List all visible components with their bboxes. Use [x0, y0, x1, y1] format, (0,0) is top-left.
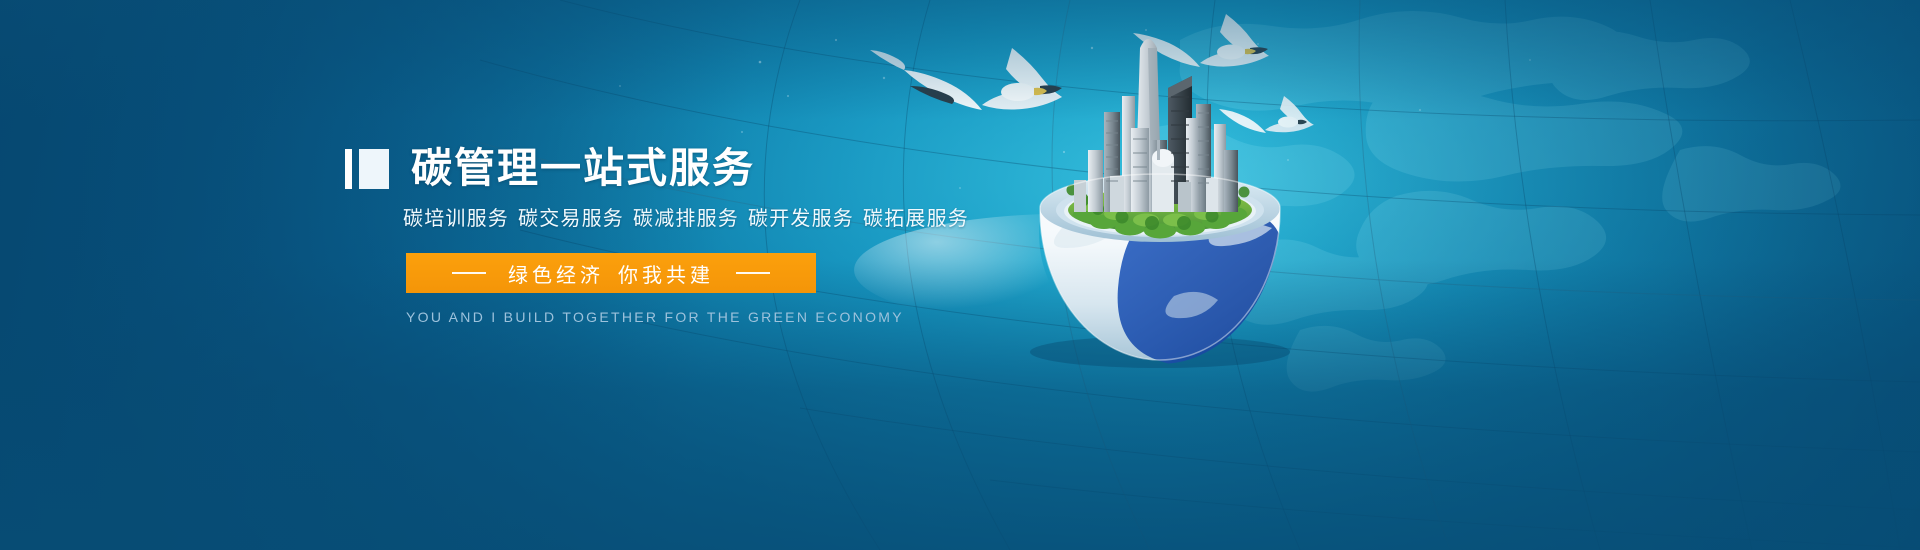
banner-content: 碳管理一站式服务 碳培训服务碳交易服务碳减排服务碳开发服务碳拓展服务 绿色经济你…: [345, 148, 1045, 325]
title-row: 碳管理一站式服务: [345, 148, 1045, 189]
service-list: 碳培训服务碳交易服务碳减排服务碳开发服务碳拓展服务: [403, 202, 1045, 231]
brand-mark-square: [359, 149, 389, 189]
english-tagline: YOU AND I BUILD TOGETHER FOR THE GREEN E…: [406, 309, 1045, 325]
page-title: 碳管理一站式服务: [411, 148, 755, 189]
service-item-3: 碳减排服务: [633, 206, 739, 230]
slogan-text: 绿色经济你我共建: [508, 259, 714, 288]
service-item-4: 碳开发服务: [748, 206, 854, 230]
hero-banner: 碳管理一站式服务 碳培训服务碳交易服务碳减排服务碳开发服务碳拓展服务 绿色经济你…: [0, 0, 1920, 550]
brand-mark-icon: [345, 149, 389, 189]
service-item-5: 碳拓展服务: [863, 206, 969, 230]
slogan-text-left: 绿色经济: [508, 263, 604, 287]
service-item-2: 碳交易服务: [518, 206, 624, 230]
slogan-banner: 绿色经济你我共建: [406, 253, 816, 293]
service-item-1: 碳培训服务: [403, 206, 509, 230]
slogan-dash-right: [736, 272, 770, 274]
skyscraper-cluster: [1074, 39, 1238, 212]
slogan-dash-left: [452, 272, 486, 274]
brand-mark-bar: [345, 149, 352, 189]
slogan-text-right: 你我共建: [618, 263, 714, 287]
